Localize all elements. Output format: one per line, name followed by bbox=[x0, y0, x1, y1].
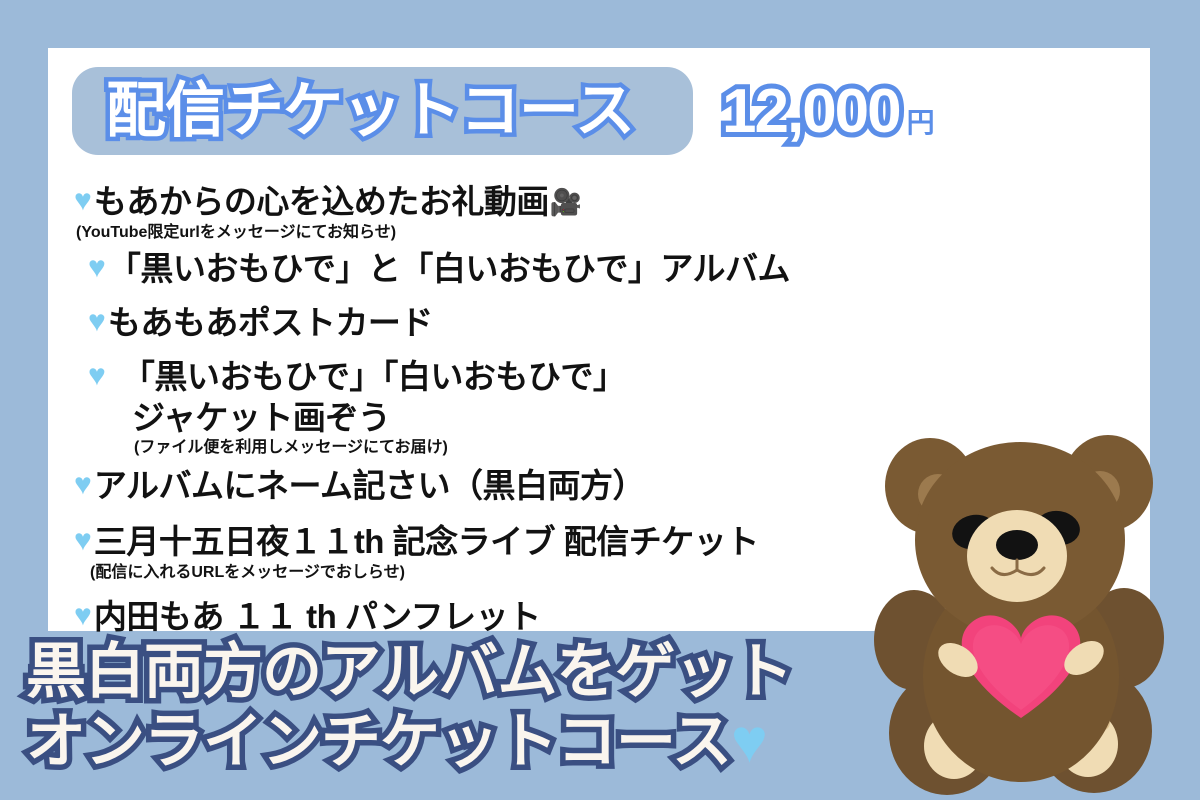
list-item: ♥ 「黒いおもひで」と「白いおもひで」アルバム bbox=[74, 248, 1134, 290]
benefit-label: 「黒いおもひで」「白いおもひで」 bbox=[122, 356, 626, 398]
benefit-label: もあからの心を込めたお礼動画 bbox=[94, 181, 549, 223]
benefit-label: アルバムにネーム記さい（黒白両方） bbox=[94, 465, 645, 507]
price-amount: 12,000 bbox=[722, 77, 900, 147]
page-title: 配信チケットコース bbox=[106, 77, 634, 145]
banner-line-1: 黒白両方のアルバムをゲット bbox=[26, 638, 792, 706]
price-currency-unit: 円 bbox=[907, 88, 935, 158]
benefit-label: もあもあポストカード bbox=[108, 302, 433, 344]
heart-bullet-icon: ♥ bbox=[88, 248, 106, 288]
bottom-banner: 黒白両方のアルバムをゲット オンラインチケットコース♥ bbox=[0, 636, 1200, 800]
heart-bullet-icon: ♥ bbox=[88, 356, 106, 396]
benefit-label: 内田もあ １１ th パンフレット bbox=[94, 596, 541, 638]
heart-bullet-icon: ♥ bbox=[88, 302, 106, 342]
list-item: ♥ もあからの心を込めたお礼動画 🎥 (YouTube限定urlをメッセージにて… bbox=[74, 181, 1134, 242]
heart-bullet-icon: ♥ bbox=[74, 181, 92, 221]
heart-bullet-icon: ♥ bbox=[74, 465, 92, 505]
benefit-label: 「黒いおもひで」と「白いおもひで」アルバム bbox=[108, 248, 790, 290]
banner-heart-icon: ♥ bbox=[731, 707, 767, 776]
list-item: ♥ もあもあポストカード bbox=[74, 302, 1134, 344]
benefit-subnote: (YouTube限定urlをメッセージにてお知らせ) bbox=[76, 223, 1134, 242]
card-header: 配信チケットコース 12,000 円 bbox=[72, 67, 1132, 155]
banner-line-2-wrap: オンラインチケットコース♥ bbox=[26, 708, 767, 776]
heart-bullet-icon: ♥ bbox=[74, 596, 92, 636]
movie-camera-icon: 🎥 bbox=[550, 181, 582, 223]
banner-line-2: オンラインチケットコース bbox=[26, 708, 731, 775]
price-block: 12,000 円 bbox=[722, 77, 935, 158]
heart-bullet-icon: ♥ bbox=[74, 521, 92, 561]
benefit-label: 三月十五日夜１１th 記念ライブ 配信チケット bbox=[94, 521, 759, 563]
